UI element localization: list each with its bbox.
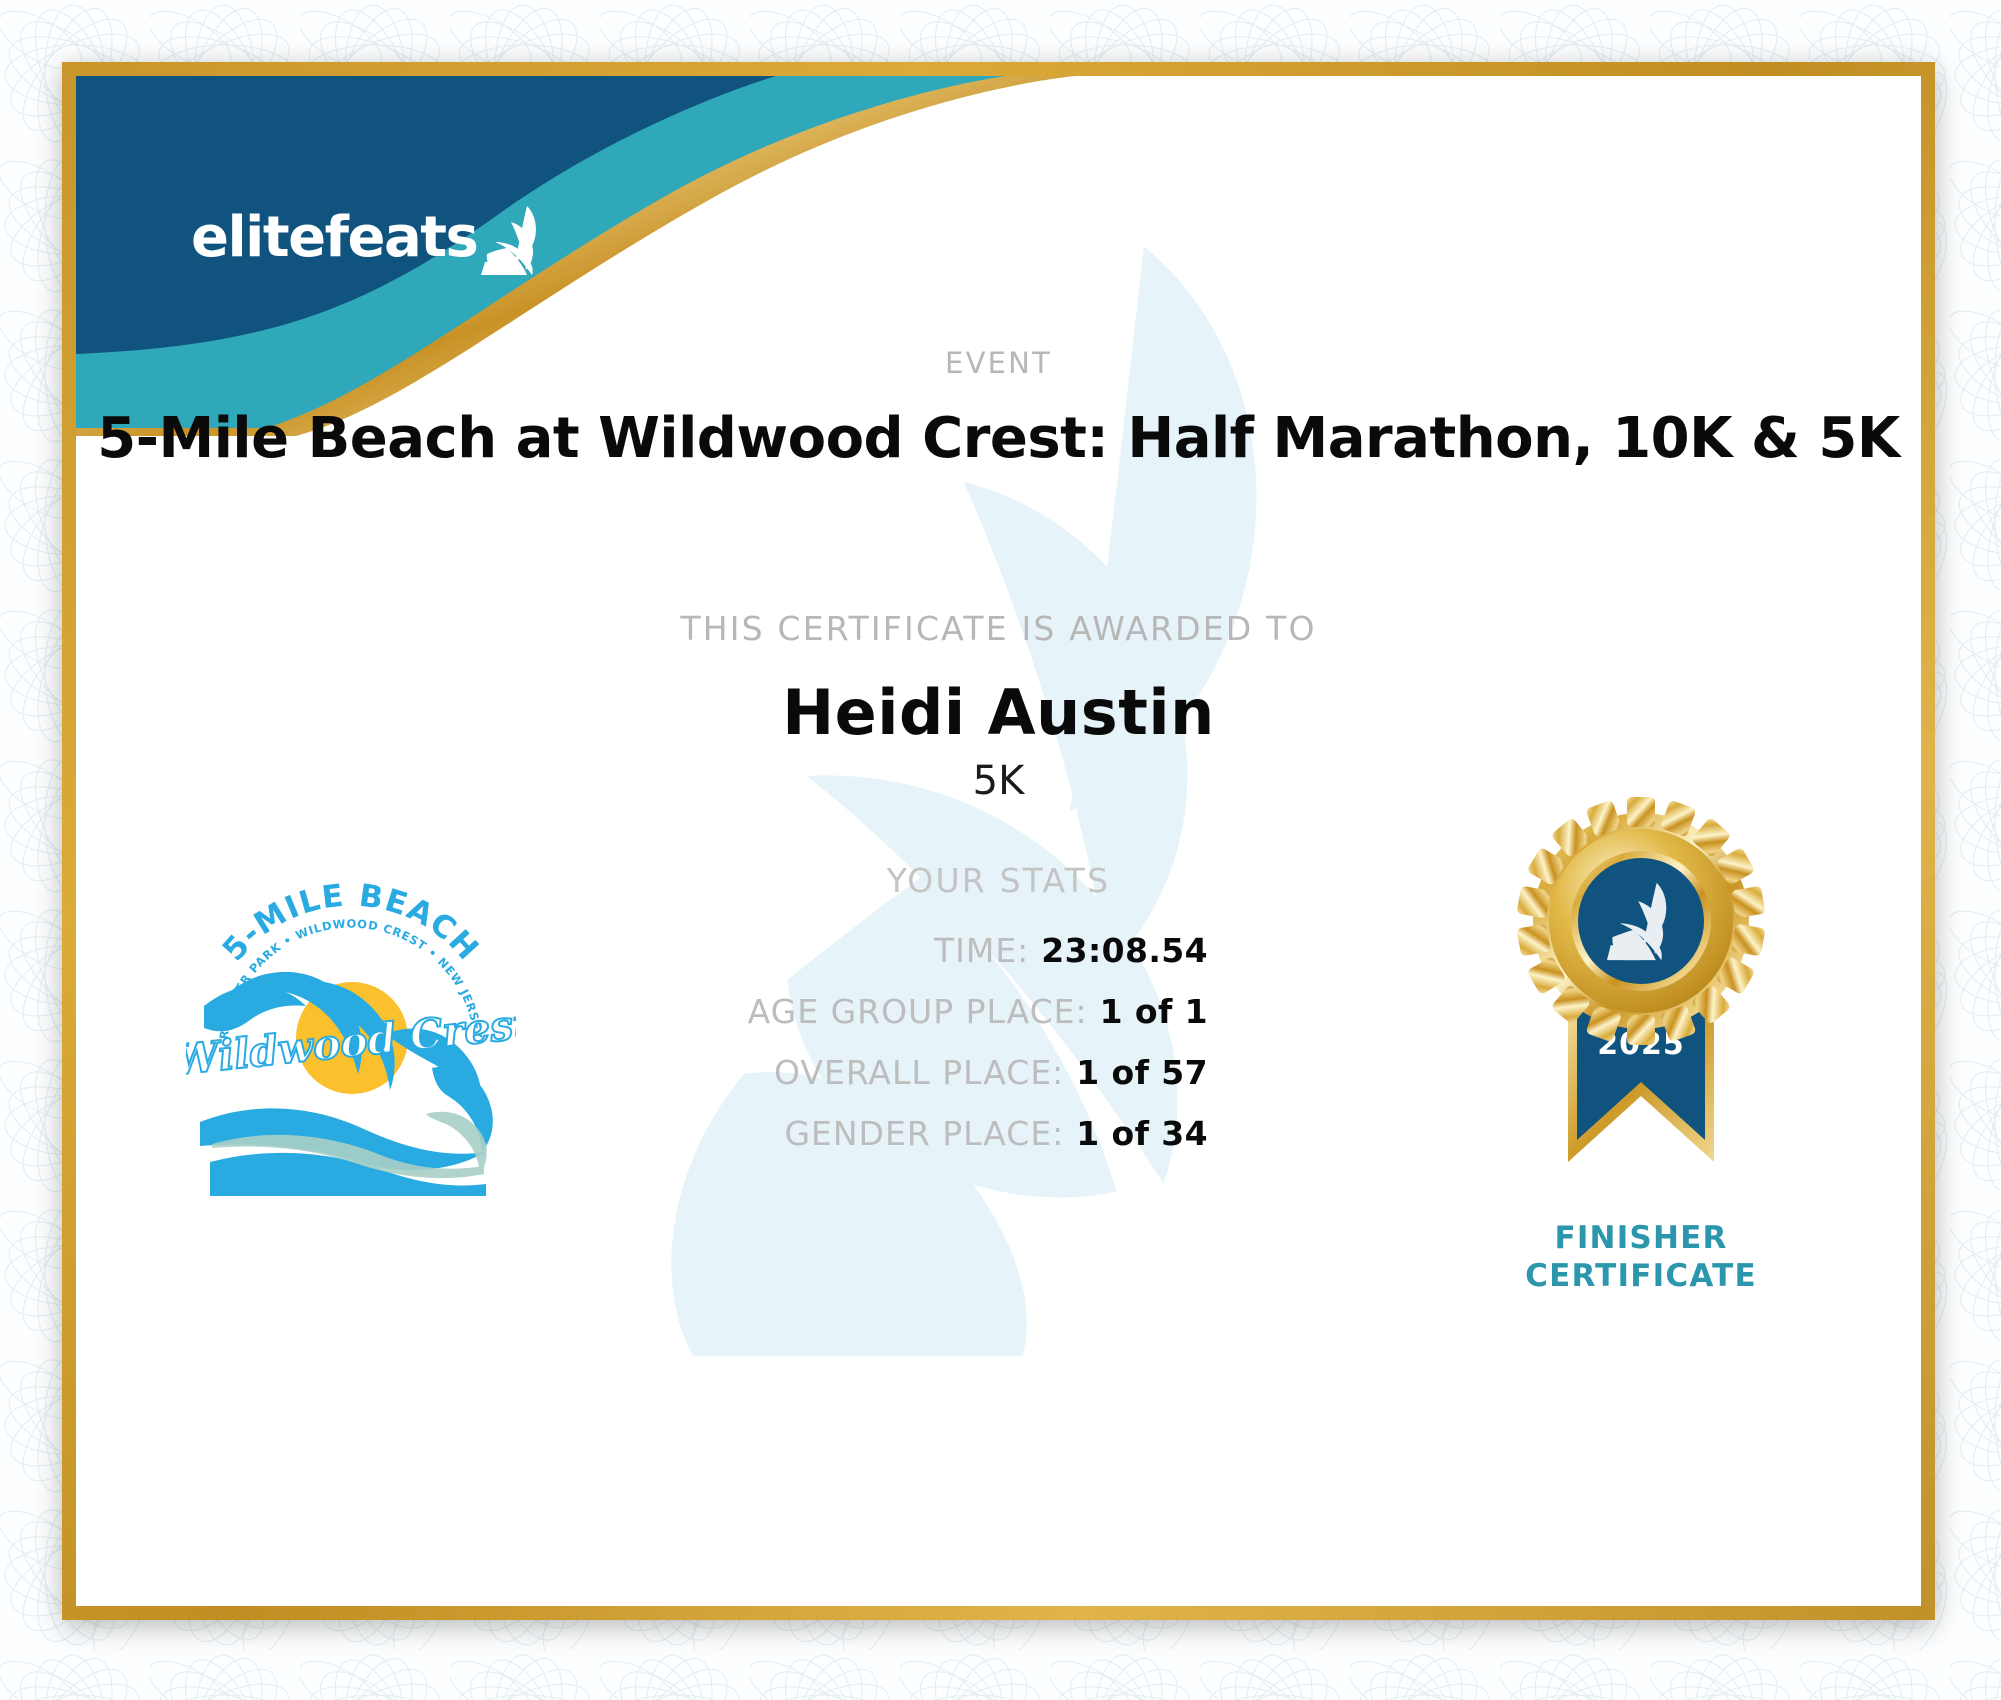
recipient-name: Heidi Austin xyxy=(76,676,1921,749)
medal-caption: FINISHER CERTIFICATE xyxy=(1476,1220,1806,1296)
stat-value: 1 of 57 xyxy=(1076,1053,1208,1092)
medal-caption-line1: FINISHER xyxy=(1476,1220,1806,1258)
winged-foot-icon xyxy=(481,204,543,276)
medal-caption-line2: CERTIFICATE xyxy=(1476,1258,1806,1296)
race-event-logo: 5-MILE BEACH RAMBLER PARK • WILDWOOD CRE… xyxy=(186,856,516,1196)
stat-value: 1 of 34 xyxy=(1076,1114,1208,1153)
awarded-to-label: THIS CERTIFICATE IS AWARDED TO xyxy=(76,609,1921,648)
stat-label: AGE GROUP PLACE: xyxy=(748,992,1088,1031)
stat-label: OVERALL PLACE: xyxy=(774,1053,1064,1092)
stat-value: 23:08.54 xyxy=(1041,931,1208,970)
stat-value: 1 of 1 xyxy=(1100,992,1208,1031)
event-kicker-label: EVENT xyxy=(76,346,1921,380)
stat-label: GENDER PLACE: xyxy=(784,1114,1064,1153)
certificate-page: elitefeats EVENT 5-Mi xyxy=(0,0,2001,1700)
certificate-frame: elitefeats EVENT 5-Mi xyxy=(62,62,1935,1620)
elitefeats-logo: elitefeats xyxy=(191,204,543,266)
finisher-medal-block: 2025 xyxy=(1476,796,1806,1296)
stat-label: TIME: xyxy=(934,931,1029,970)
logo-distances: 13.1 • 10k • 5k xyxy=(280,1171,392,1186)
finisher-medal-icon: 2025 xyxy=(1476,796,1806,1216)
event-title: 5-Mile Beach at Wildwood Crest: Half Mar… xyxy=(76,406,1921,471)
brand-wordmark: elitefeats xyxy=(191,210,477,266)
certificate-inner: elitefeats EVENT 5-Mi xyxy=(76,76,1921,1606)
